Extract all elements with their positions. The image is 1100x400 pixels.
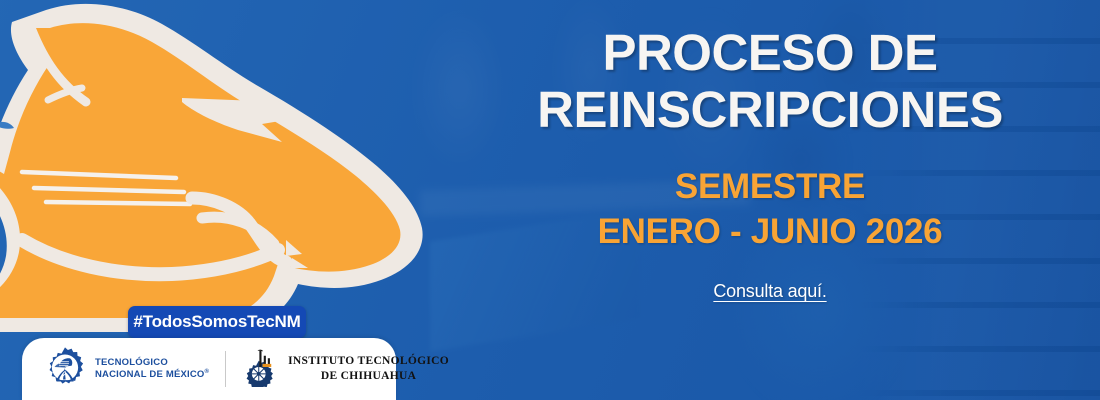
itch-wordmark: INSTITUTO TECNOLÓGICO DE CHIHUAHUA — [288, 354, 449, 384]
institution-logo-card: TECNOLÓGICO NACIONAL DE MÉXICO® — [22, 338, 396, 400]
tecnm-logo: TECNOLÓGICO NACIONAL DE MÉXICO® — [44, 346, 209, 393]
itch-line1: INSTITUTO TECNOLÓGICO — [288, 355, 449, 367]
jaguar-head-icon — [0, 2, 456, 332]
tecnm-line2: NACIONAL DE MÉXICO — [95, 369, 205, 380]
logo-divider — [225, 351, 226, 387]
itch-line2: DE CHIHUAHUA — [321, 370, 416, 382]
itch-logo: INSTITUTO TECNOLÓGICO DE CHIHUAHUA — [240, 347, 449, 392]
tecnm-eagle-gear-icon — [44, 346, 86, 393]
semester-subtitle: SEMESTRE ENERO - JUNIO 2026 — [440, 138, 1100, 255]
title-line-2: REINSCRIPCIONES — [537, 81, 1003, 138]
tecnm-wordmark: TECNOLÓGICO NACIONAL DE MÉXICO® — [95, 357, 209, 381]
page-title: PROCESO DE REINSCRIPCIONES — [440, 0, 1100, 138]
tecnm-registered-mark: ® — [205, 369, 210, 375]
tecnm-line1: TECNOLÓGICO — [95, 357, 168, 368]
title-line-1: PROCESO DE — [602, 24, 937, 81]
hashtag-badge: #TodosSomosTecNM — [128, 306, 306, 338]
consulta-aqui-link[interactable]: Consulta aquí. — [713, 281, 826, 302]
reinscripciones-banner: #TodosSomosTecNM — [0, 0, 1100, 400]
itch-factory-gear-icon — [240, 347, 280, 392]
banner-content: PROCESO DE REINSCRIPCIONES SEMESTRE ENER… — [440, 0, 1100, 400]
subtitle-line-1: SEMESTRE — [675, 167, 865, 206]
subtitle-line-2: ENERO - JUNIO 2026 — [598, 212, 943, 251]
